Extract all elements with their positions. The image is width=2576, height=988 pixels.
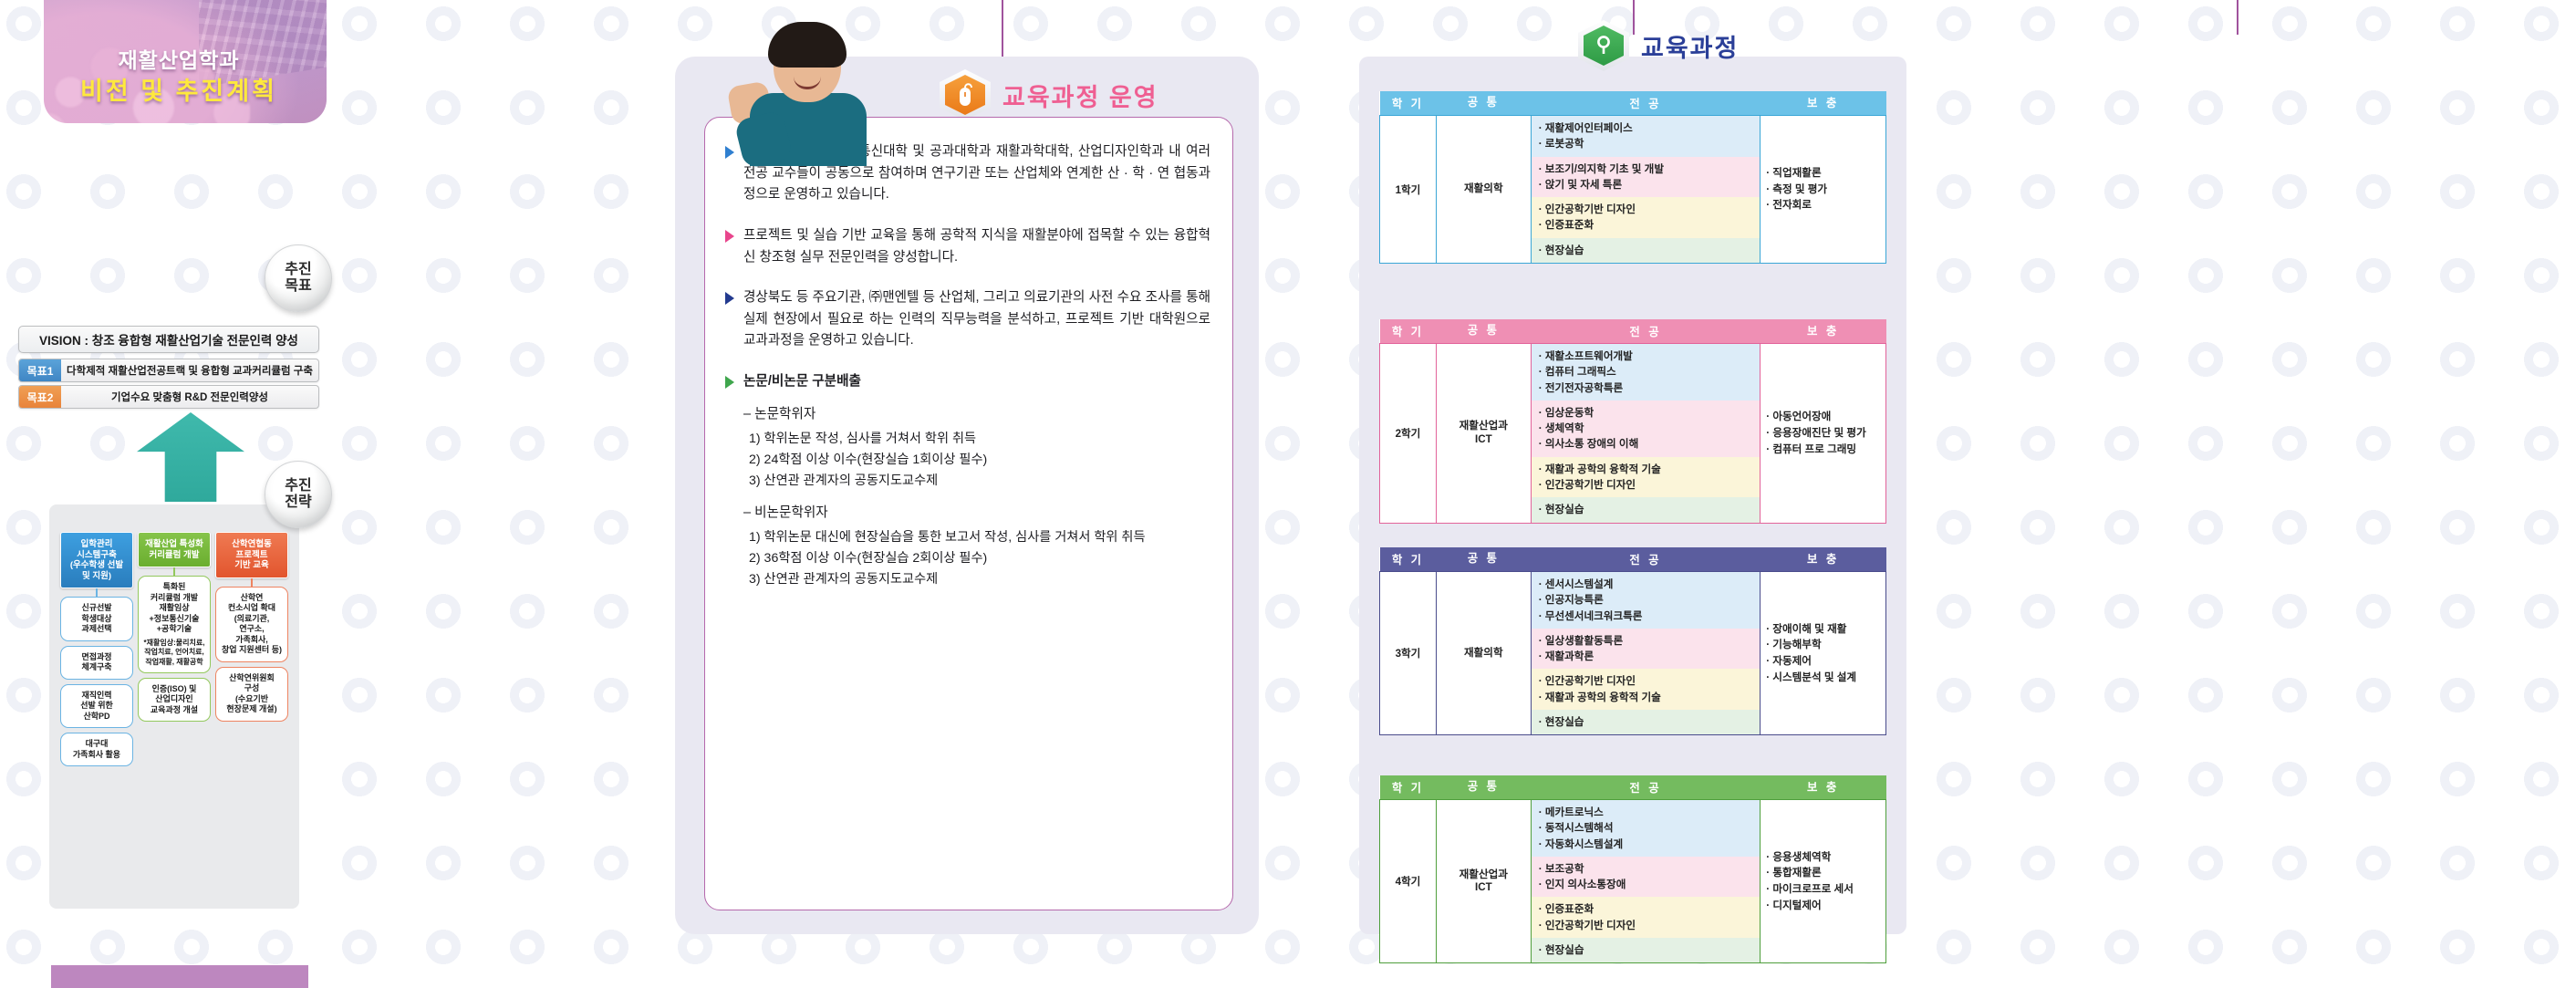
goal-row: 목표2 기업수요 맞춤형 R&D 전문인력양성 [18, 385, 319, 409]
support-course: · 마이크로프로 세서 [1766, 881, 1880, 898]
cell-semester: 2학기 [1380, 344, 1437, 524]
major-course: · 현장실습 [1539, 502, 1753, 517]
goal-badge: 추진 목표 [265, 244, 332, 312]
column-header: 보 충 [1761, 91, 1886, 116]
major-course: · 로봇공학 [1539, 136, 1753, 151]
table-header-row: 학 기공 통전 공보 충 [1380, 775, 1886, 800]
major-course: · 재활과학론 [1539, 649, 1753, 664]
major-group: · 임상운동학· 생체역학· 의사소통 장애의 이해 [1532, 400, 1761, 457]
vision-statement: VISION : 창조 융합형 재활산업기술 전문인력 양성 [18, 326, 319, 353]
cell-major: · 메카트로닉스· 동적시스템해석· 자동화시스템설계· 보조공학· 인지 의사… [1531, 800, 1761, 963]
support-course: · 디지털제어 [1766, 898, 1880, 914]
support-course: · 통합재활론 [1766, 865, 1880, 881]
major-group: · 인증표준화· 인간공학기반 디자인 [1532, 897, 1761, 938]
cell-common: 재활의학 [1436, 116, 1531, 264]
major-course: · 보조기/의지학 기초 및 개발 [1539, 161, 1753, 177]
major-course: · 인공지능특론 [1539, 592, 1753, 608]
major-group: · 재활제어인터페이스· 로봇공학 [1532, 116, 1761, 157]
major-group: · 현장실습 [1532, 238, 1761, 263]
major-group: · 재활소프트웨어개발· 컴퓨터 그래픽스· 전기전자공학특론 [1532, 344, 1761, 400]
thesis-item: 2) 36학점 이상 이수(현장실습 2회이상 필수) [767, 548, 1210, 569]
table-header-row: 학 기공 통전 공보 충 [1380, 547, 1886, 572]
table-row: 3학기재활의학· 센서시스템설계· 인공지능특론· 무선센서네크워크특론· 일상… [1380, 572, 1886, 735]
column-header: 전 공 [1531, 319, 1761, 344]
thesis-item: 3) 산연관 관계자의 공동지도교수제 [767, 471, 1210, 492]
bullet-text: 경상북도 등 주요기관, ㈜맨엔텔 등 산업체, 그리고 의료기관의 사전 수요… [743, 287, 1210, 352]
semester-table: 학 기공 통전 공보 충1학기재활의학· 재활제어인터페이스· 로봇공학· 보조… [1379, 91, 1886, 264]
major-course: · 일상생활활동특론 [1539, 633, 1753, 649]
curriculum-operation-card: 재활산업학과는 정보통신대학 및 공과대학과 재활과학대학, 산업디자인학과 내… [704, 117, 1233, 910]
strategy-box: 인증(ISO) 및산업디자인교육과정 개설 [138, 678, 211, 723]
major-course: · 현장실습 [1539, 942, 1753, 958]
semester-table: 학 기공 통전 공보 충3학기재활의학· 센서시스템설계· 인공지능특론· 무선… [1379, 547, 1886, 735]
major-course: · 재활과 공학의 융학적 기술 [1539, 462, 1753, 477]
cell-common: 재활산업과ICT [1436, 344, 1531, 524]
strategy-box: 특화된커리큘럼 개발재활임상+정보통신기술+공학기술*재활임상:물리치료, 작업… [138, 576, 211, 673]
search-icon [1578, 20, 1629, 71]
column-header: 보 충 [1761, 319, 1886, 344]
thesis-item: 1) 학위논문 대신에 현장실습을 통한 보고서 작성, 심사를 거쳐서 학위 … [767, 527, 1210, 548]
bullet-block: 경상북도 등 주요기관, ㈜맨엔텔 등 산업체, 그리고 의료기관의 사전 수요… [725, 287, 1210, 352]
table-row: 1학기재활의학· 재활제어인터페이스· 로봇공학· 보조기/의지학 기초 및 개… [1380, 116, 1886, 264]
cell-common: 재활의학 [1436, 572, 1531, 735]
column-header: 공 통 [1436, 319, 1531, 344]
support-course: · 전자회로 [1766, 197, 1880, 213]
major-course: · 생체역학 [1539, 421, 1753, 436]
table-row: 4학기재활산업과ICT· 메카트로닉스· 동적시스템해석· 자동화시스템설계· … [1380, 800, 1886, 963]
major-group: · 현장실습 [1532, 497, 1761, 522]
table-row: 2학기재활산업과ICT· 재활소프트웨어개발· 컴퓨터 그래픽스· 전기전자공학… [1380, 344, 1886, 524]
column-header: 공 통 [1436, 91, 1531, 116]
upward-arrow-icon [137, 412, 244, 502]
mouse-icon [940, 69, 991, 120]
major-group: · 현장실습 [1532, 710, 1761, 734]
column-header: 전 공 [1531, 91, 1761, 116]
major-course: · 임상운동학 [1539, 405, 1753, 421]
goal-badge-line2: 목표 [285, 278, 311, 295]
strategy-column-industry: 산학연협동프로젝트기반 교육산학연컨소시업 확대(의료기관,연구소,가족회사,창… [215, 532, 288, 726]
student-hair [768, 22, 847, 68]
strategy-box: 대구대가족회사 활용 [60, 733, 133, 766]
cell-major: · 재활제어인터페이스· 로봇공학· 보조기/의지학 기초 및 개발· 앉기 및… [1531, 116, 1761, 264]
major-group: · 일상생활활동특론· 재활과학론 [1532, 629, 1761, 670]
major-course: · 재활제어인터페이스 [1539, 120, 1753, 136]
strategy-box: 산학연컨소시업 확대(의료기관,연구소,가족회사,창업 지원센터 등) [215, 587, 288, 662]
major-course: · 센서시스템설계 [1539, 577, 1753, 592]
triangle-bullet-icon [725, 230, 734, 243]
major-course: · 전기전자공학특론 [1539, 380, 1753, 396]
major-course: · 의사소통 장애의 이해 [1539, 436, 1753, 452]
column-header: 학 기 [1380, 775, 1437, 800]
support-course: · 컴퓨터 프로 그래밍 [1766, 442, 1880, 458]
support-course: · 자동제어 [1766, 653, 1880, 670]
triangle-bullet-icon [725, 292, 734, 305]
major-course: · 재활소프트웨어개발 [1539, 348, 1753, 364]
support-course: · 기능해부학 [1766, 637, 1880, 653]
thesis-title: 논문/비논문 구분배출 [743, 371, 861, 393]
column-header: 학 기 [1380, 91, 1437, 116]
cell-common: 재활산업과ICT [1436, 800, 1531, 963]
support-course: · 아동언어장애 [1766, 409, 1880, 425]
strategy-connector [251, 578, 253, 587]
cell-support: · 아동언어장애· 응용장애진단 및 평가· 컴퓨터 프로 그래밍 [1761, 344, 1886, 524]
column-header: 학 기 [1380, 319, 1437, 344]
major-course: · 앉기 및 자세 특론 [1539, 177, 1753, 192]
cell-major: · 재활소프트웨어개발· 컴퓨터 그래픽스· 전기전자공학특론· 임상운동학· … [1531, 344, 1761, 524]
student-eye-right [817, 64, 826, 67]
male-student-photo [730, 27, 883, 162]
strategy-box: 신규선발학생대상과제선택 [60, 597, 133, 641]
major-course: · 무선센서네크워크특론 [1539, 608, 1753, 624]
column-header: 전 공 [1531, 775, 1761, 800]
strategy-connector [96, 588, 98, 597]
major-group: · 인간공학기반 디자인· 재활과 공학의 융학적 기술 [1532, 669, 1761, 710]
major-course: · 인간공학기반 디자인 [1539, 918, 1753, 933]
major-course: · 인간공학기반 디자인 [1539, 202, 1753, 217]
thesis-group-label: – 논문학위자 [743, 404, 1210, 425]
strategy-head: 재활산업 특성화커리큘럼 개발 [138, 532, 211, 567]
cell-support: · 장애이해 및 재활· 기능해부학· 자동제어· 시스템분석 및 설계 [1761, 572, 1886, 735]
cell-semester: 1학기 [1380, 116, 1437, 264]
major-course: · 인지 의사소통장애 [1539, 877, 1753, 892]
goal-tag: 목표1 [19, 359, 61, 381]
hero-title-vision: 비전 및 추진계획 [44, 71, 314, 107]
strategy-box: 산학연위원회구성(수요기반현장문제 개설) [215, 667, 288, 722]
strategy-connector [173, 567, 175, 576]
strategy-box: 재직인력선발 위한산학PD [60, 684, 133, 729]
column-header: 공 통 [1436, 547, 1531, 572]
thesis-item: 2) 24학점 이상 이수(현장실습 1회이상 필수) [767, 450, 1210, 471]
semester-table: 학 기공 통전 공보 충2학기재활산업과ICT· 재활소프트웨어개발· 컴퓨터 … [1379, 319, 1886, 524]
cell-major: · 센서시스템설계· 인공지능특론· 무선센서네크워크특론· 일상생활활동특론·… [1531, 572, 1761, 735]
strategy-panel: 입학관리시스템구축(우수학생 선발및 지원)신규선발학생대상과제선택면접과정체계… [49, 504, 299, 909]
thesis-item: 3) 산연관 관계자의 공동지도교수제 [767, 569, 1210, 590]
strategy-box: 면접과정체계구축 [60, 646, 133, 680]
goal-tag: 목표2 [19, 386, 61, 408]
major-course: · 보조공학 [1539, 861, 1753, 877]
support-course: · 장애이해 및 재활 [1766, 621, 1880, 638]
column-header: 학 기 [1380, 547, 1437, 572]
goal-badge-line1: 추진 [285, 262, 311, 278]
hero-title-department: 재활산업학과 [44, 43, 314, 74]
strategy-badge-line2: 전략 [285, 494, 311, 511]
major-course: · 동적시스템해석 [1539, 820, 1753, 836]
bottom-purple-bar [51, 965, 308, 988]
major-course: · 자동화시스템설계 [1539, 837, 1753, 852]
major-group: · 보조공학· 인지 의사소통장애 [1532, 857, 1761, 898]
support-course: · 측정 및 평가 [1766, 182, 1880, 198]
thesis-group-label: – 비논문학위자 [743, 503, 1210, 524]
goal-row: 목표1 다학제적 재활산업전공트랙 및 융합형 교과커리큘럼 구축 [18, 359, 319, 382]
column-header: 전 공 [1531, 547, 1761, 572]
student-eye-left [788, 64, 796, 67]
brochure-page: 재활산업학과 비전 및 추진계획 추진 목표 VISION : 창조 융합형 재… [0, 0, 2576, 988]
support-course: · 직업재활론 [1766, 165, 1880, 182]
major-course: · 컴퓨터 그래픽스 [1539, 364, 1753, 380]
major-group: · 센서시스템설계· 인공지능특론· 무선센서네크워크특론 [1532, 572, 1761, 629]
goal-text: 기업수요 맞춤형 R&D 전문인력양성 [61, 386, 318, 408]
strategy-head: 입학관리시스템구축(우수학생 선발및 지원) [60, 532, 133, 588]
goal-text: 다학제적 재활산업전공트랙 및 융합형 교과커리큘럼 구축 [61, 359, 318, 381]
support-course: · 응용장애진단 및 평가 [1766, 425, 1880, 442]
table-header-row: 학 기공 통전 공보 충 [1380, 91, 1886, 116]
major-course: · 재활과 공학의 융학적 기술 [1539, 690, 1753, 705]
table-header-row: 학 기공 통전 공보 충 [1380, 319, 1886, 344]
stem-middle [1002, 0, 1003, 60]
strategy-head: 산학연협동프로젝트기반 교육 [215, 532, 288, 578]
major-course: · 현장실습 [1539, 714, 1753, 730]
column-header: 보 충 [1761, 775, 1886, 800]
major-course: · 인증표준화 [1539, 217, 1753, 233]
support-course: · 시스템분석 및 설계 [1766, 670, 1880, 686]
cell-support: · 응용생체역학· 통합재활론· 마이크로프로 세서· 디지털제어 [1761, 800, 1886, 963]
left-column: 재활산업학과 비전 및 추진계획 추진 목표 VISION : 창조 융합형 재… [0, 0, 639, 988]
cell-semester: 3학기 [1380, 572, 1437, 735]
major-group: · 현장실습 [1532, 938, 1761, 962]
support-course: · 응용생체역학 [1766, 849, 1880, 866]
cell-semester: 4학기 [1380, 800, 1437, 963]
cell-support: · 직업재활론· 측정 및 평가· 전자회로 [1761, 116, 1886, 264]
section-header-curriculum-operation: 교육과정 운영 [940, 69, 1158, 120]
bullet-block: 프로젝트 및 실습 기반 교육을 통해 공학적 지식을 재활분야에 접목할 수 … [725, 225, 1210, 268]
semester-table: 학 기공 통전 공보 충4학기재활산업과ICT· 메카트로닉스· 동적시스템해석… [1379, 775, 1886, 963]
major-group: · 재활과 공학의 융학적 기술· 인간공학기반 디자인 [1532, 457, 1761, 498]
column-header: 보 충 [1761, 547, 1886, 572]
section-header-curriculum: 교육과정 [1578, 20, 1739, 71]
major-group: · 인간공학기반 디자인· 인증표준화 [1532, 197, 1761, 238]
strategy-box-note: *재활임상:물리치료, 작업치료, 언어치료, 작업재활, 재활공학 [141, 639, 207, 667]
triangle-bullet-icon [725, 376, 734, 389]
major-group: · 메카트로닉스· 동적시스템해석· 자동화시스템설계 [1532, 800, 1761, 857]
bullet-block-thesis: 논문/비논문 구분배출 [725, 371, 1210, 393]
major-course: · 인간공학기반 디자인 [1539, 477, 1753, 493]
right-column: 학과 특전 등록금 전액 국고지원– 학생의 경우 등록금 전액 국고 지원 (… [1938, 0, 2576, 988]
major-group: · 보조기/의지학 기초 및 개발· 앉기 및 자세 특론 [1532, 157, 1761, 198]
strategy-badge: 추진 전략 [265, 461, 332, 528]
hero-banner: 재활산업학과 비전 및 추진계획 [44, 0, 327, 123]
strategy-column-admission: 입학관리시스템구축(우수학생 선발및 지원)신규선발학생대상과제선택면접과정체계… [60, 532, 133, 771]
strategy-badge-line1: 추진 [285, 478, 311, 494]
section-title: 교육과정 [1641, 28, 1739, 64]
strategy-column-curriculum: 재활산업 특성화커리큘럼 개발특화된커리큘럼 개발재활임상+정보통신기술+공학기… [138, 532, 211, 726]
major-course: · 인증표준화 [1539, 901, 1753, 917]
column-header: 공 통 [1436, 775, 1531, 800]
section-title: 교육과정 운영 [1002, 78, 1158, 113]
thesis-item: 1) 학위논문 작성, 심사를 거쳐서 학위 취득 [767, 429, 1210, 450]
bullet-text: 프로젝트 및 실습 기반 교육을 통해 공학적 지식을 재활분야에 접목할 수 … [743, 225, 1210, 268]
major-course: · 인간공학기반 디자인 [1539, 673, 1753, 689]
major-course: · 현장실습 [1539, 243, 1753, 258]
major-course: · 메카트로닉스 [1539, 805, 1753, 820]
